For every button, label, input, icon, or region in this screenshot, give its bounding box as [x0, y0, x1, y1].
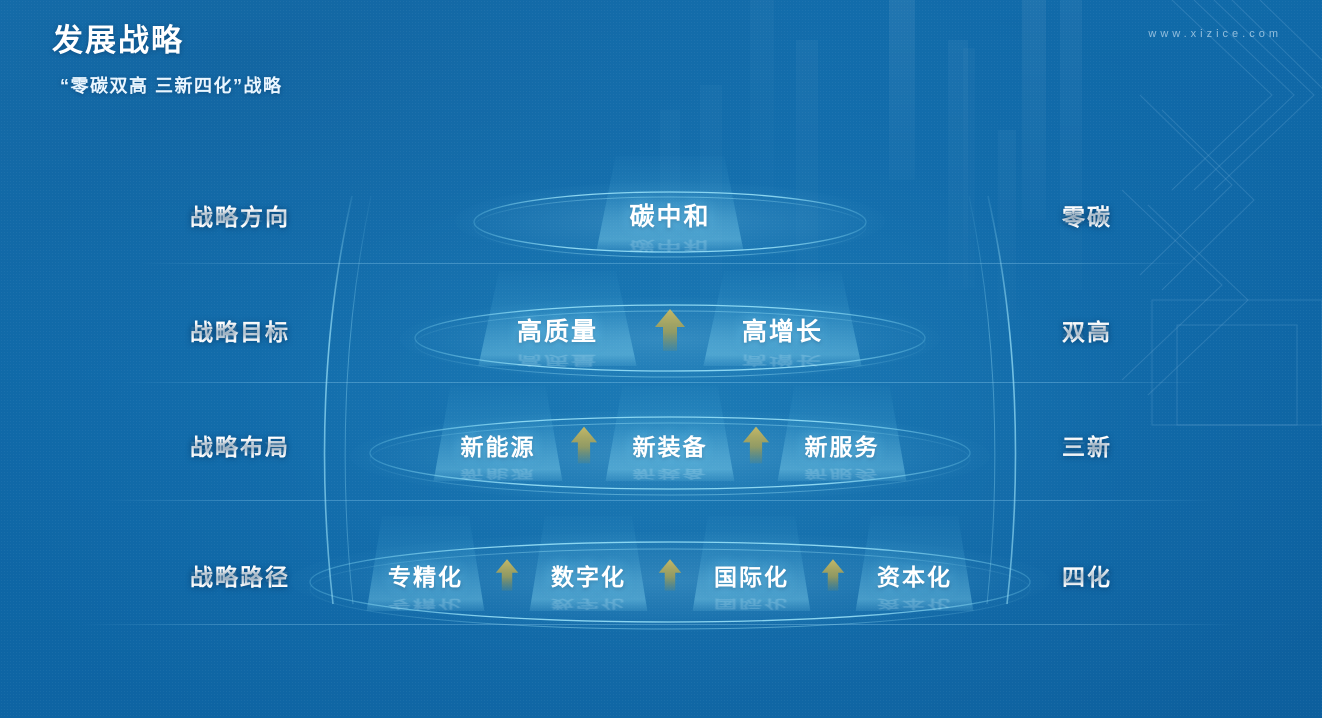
tier-4-cells: 专精化 专精化 数字化 数字化	[355, 540, 985, 610]
tier-4-item-1-reflection: 数字化	[551, 597, 626, 614]
tier-2-item-0[interactable]: 高质量 高质量	[475, 295, 640, 365]
tier-2-right-label-reflection: 双高	[1062, 324, 1112, 343]
arrow-up-icon	[640, 307, 700, 353]
tier-3-right-label: 三新 三新	[1062, 410, 1112, 480]
header: 发展战略 “零碳双高 三新四化”战略	[52, 22, 283, 98]
tier-4-item-0-reflection: 专精化	[388, 597, 463, 614]
tier-1-cells: 碳中和 碳中和	[475, 180, 865, 250]
tier-3-item-0[interactable]: 新能源 新能源	[433, 410, 563, 480]
tier-4-item-0[interactable]: 专精化 专精化	[367, 540, 485, 610]
tier-2-right-label: 双高 双高	[1062, 295, 1112, 365]
tier-2-item-1[interactable]: 高增长 高增长	[700, 295, 865, 365]
tier-3-item-2-reflection: 新服务	[805, 467, 880, 484]
tier-3-item-1-reflection: 新装备	[633, 467, 708, 484]
tier-4-left-label: 战略路径 战略路径	[190, 540, 290, 610]
tier-1-right-label: 零碳 零碳	[1062, 180, 1112, 250]
tier-row-2: 战略目标 战略目标 高质量 高质量	[0, 295, 1322, 365]
page-title: 发展战略	[52, 22, 283, 61]
background-bar	[963, 48, 975, 288]
tier-3-cells: 新能源 新能源 新装备 新装备	[405, 410, 935, 480]
tier-4-right-label-reflection: 四化	[1062, 569, 1112, 588]
background-bar	[889, 0, 915, 180]
tier-divider	[120, 382, 1210, 383]
tier-4-item-2[interactable]: 国际化 国际化	[693, 540, 811, 610]
watermark: www.xizice.com	[1148, 28, 1282, 40]
tier-row-3: 战略布局 战略布局 新能源 新能源	[0, 410, 1322, 480]
arrow-up-icon	[563, 424, 605, 466]
tier-4-item-3[interactable]: 资本化 资本化	[856, 540, 974, 610]
arrow-up-icon	[811, 555, 856, 595]
tier-1-item-0-reflection: 碳中和	[629, 237, 710, 255]
tier-2-item-0-label: 高质量	[517, 312, 598, 348]
tier-4-left-label-reflection: 战略路径	[190, 569, 290, 588]
tier-2-item-0-reflection: 高质量	[517, 352, 598, 370]
tier-2-left-label: 战略目标 战略目标	[190, 295, 290, 365]
tier-1-item-0[interactable]: 碳中和 碳中和	[595, 180, 745, 250]
tier-4-item-1-label: 数字化	[551, 558, 626, 592]
tier-3-left-label-reflection: 战略布局	[190, 439, 290, 458]
tier-row-1: 战略方向 战略方向 碳中和 碳中和 零碳 零碳	[0, 180, 1322, 250]
arrow-up-icon	[485, 555, 530, 595]
tier-4-item-1[interactable]: 数字化 数字化	[530, 540, 648, 610]
tier-1-left-label-reflection: 战略方向	[190, 209, 290, 228]
background-bar	[796, 40, 818, 290]
tier-2-cells: 高质量 高质量 高增长 高增长	[415, 295, 925, 365]
tier-1-item-0-label: 碳中和	[629, 197, 710, 233]
arrow-up-icon	[648, 555, 693, 595]
tier-3-item-0-reflection: 新能源	[461, 467, 536, 484]
tier-divider	[140, 263, 1200, 264]
tier-4-right-label: 四化 四化	[1062, 540, 1112, 610]
tier-3-item-1[interactable]: 新装备 新装备	[605, 410, 735, 480]
tier-row-4: 战略路径 战略路径 专精化 专精化	[0, 540, 1322, 610]
tier-1-right-label-reflection: 零碳	[1062, 209, 1112, 228]
tier-4-item-3-label: 资本化	[877, 558, 952, 592]
background-bar	[750, 0, 774, 190]
slide-canvas: 发展战略 “零碳双高 三新四化”战略 www.xizice.com 战略方向 战…	[0, 0, 1322, 718]
tier-4-item-3-reflection: 资本化	[877, 597, 952, 614]
tier-divider	[100, 500, 1220, 501]
tier-2-left-label-reflection: 战略目标	[190, 324, 290, 343]
tier-1-left-label: 战略方向 战略方向	[190, 180, 290, 250]
tier-2-item-1-reflection: 高增长	[742, 352, 823, 370]
arrow-up-icon	[735, 424, 777, 466]
page-subtitle: “零碳双高 三新四化”战略	[60, 72, 283, 98]
tier-4-item-2-reflection: 国际化	[714, 597, 789, 614]
tier-3-item-0-label: 新能源	[461, 428, 536, 462]
tier-divider	[80, 624, 1240, 625]
tier-3-item-2-label: 新服务	[805, 428, 880, 462]
tier-3-right-label-reflection: 三新	[1062, 439, 1112, 458]
tier-4-item-2-label: 国际化	[714, 558, 789, 592]
tier-3-item-1-label: 新装备	[633, 428, 708, 462]
background-bar	[948, 40, 968, 290]
tier-4-item-0-label: 专精化	[388, 558, 463, 592]
tier-2-item-1-label: 高增长	[742, 312, 823, 348]
tier-3-left-label: 战略布局 战略布局	[190, 410, 290, 480]
tier-3-item-2[interactable]: 新服务 新服务	[777, 410, 907, 480]
